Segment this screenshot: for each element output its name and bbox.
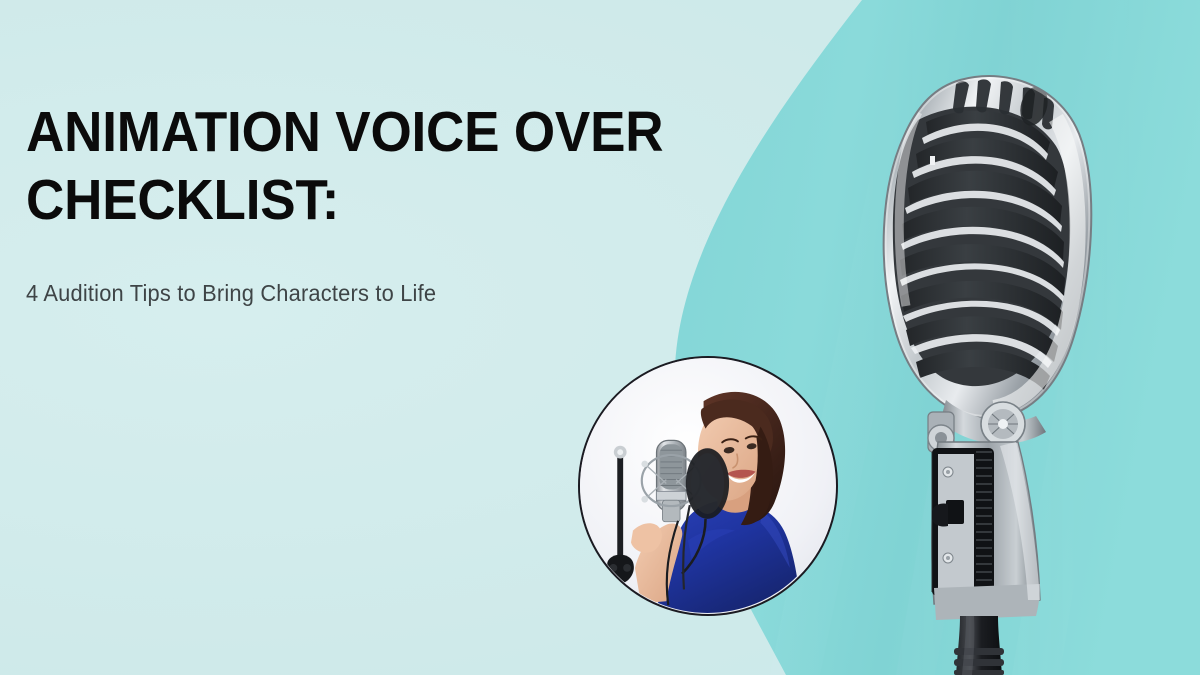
banner-canvas: ANIMATION VOICE OVER CHECKLIST: 4 Auditi… — [0, 0, 1200, 675]
page-subtitle: 4 Audition Tips to Bring Characters to L… — [26, 234, 710, 308]
copy-block: ANIMATION VOICE OVER CHECKLIST: 4 Auditi… — [26, 98, 746, 308]
page-title: ANIMATION VOICE OVER CHECKLIST: — [26, 98, 696, 234]
voice-actor-portrait — [578, 356, 838, 616]
